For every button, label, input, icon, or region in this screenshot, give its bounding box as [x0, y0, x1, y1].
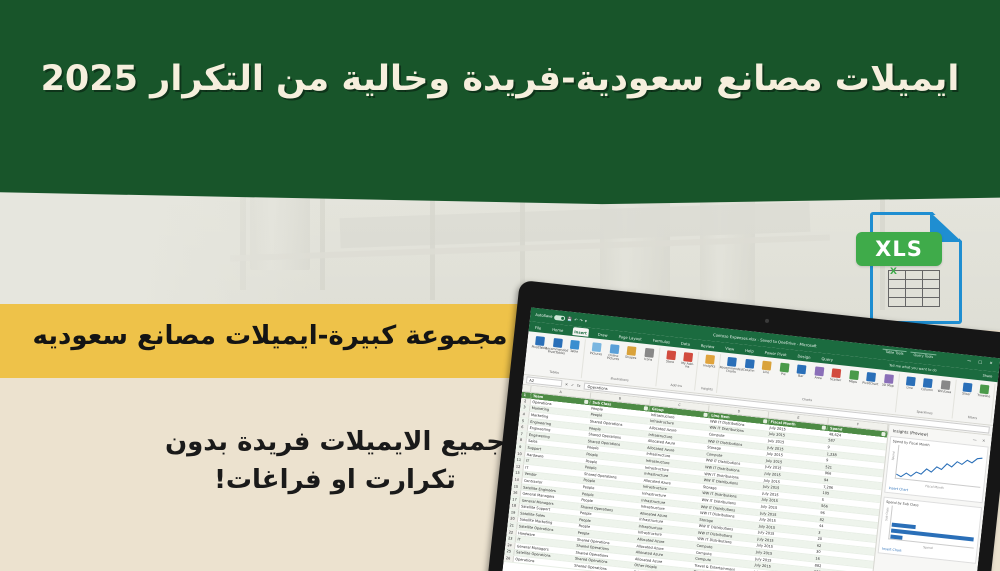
ribbon-button-label: Shapes [625, 356, 637, 361]
feature-copy: جميع الايميلات فريدة بدون تكرارت او فراغ… [125, 424, 545, 499]
bar-shared-operations [891, 529, 974, 542]
laptop-device: AutoSave 💾 ↶ ↷ ▾ Contoso Expenses.xlsx -… [488, 280, 1000, 571]
ribbon-button-label: Scatter [830, 378, 841, 383]
tab-help[interactable]: Help [743, 346, 756, 355]
insights-title: Insights (Preview) [893, 428, 929, 437]
ribbon-button-store[interactable]: Store [662, 350, 678, 365]
insight-card-bar[interactable]: Spend by Sub Class Sub Class Spend Inser… [878, 497, 983, 564]
line-chart-series [896, 446, 983, 487]
tell-me-search[interactable]: Tell me what you want to do [889, 363, 937, 372]
ribbon-button-insights[interactable]: Insights [702, 354, 718, 369]
filter-dropdown-icon[interactable] [822, 426, 826, 430]
tab-design[interactable]: Design [795, 351, 813, 361]
ribbon-group-illustrations: PicturesOnline PicturesShapesIconsIllust… [584, 340, 660, 387]
ribbon-button-pictures[interactable]: Pictures [588, 342, 604, 357]
xls-label-badge: XLS [856, 232, 942, 266]
page-title: ايميلات مصانع سعودية-فريدة وخالية من الت… [0, 56, 1000, 103]
insight-card-line[interactable]: Spend by Fiscal Month Spend Fiscal Month [884, 436, 989, 503]
tab-page-layout[interactable]: Page Layout [616, 332, 644, 343]
ribbon-button-label: Timeline [977, 394, 990, 399]
ribbon-button-shapes[interactable]: Shapes [623, 346, 639, 361]
excel-x-mark-icon: X [890, 267, 897, 277]
ribbon-button-label: Pictures [590, 352, 603, 357]
ribbon-group-label: Charts [802, 397, 813, 403]
ribbon-group-items: LineColumnWin/Loss [902, 374, 953, 395]
ribbon-button-label: Insights [703, 364, 715, 369]
ribbon-group-label: Sparklines [916, 410, 933, 417]
tab-data[interactable]: Data [679, 339, 693, 348]
tab-home[interactable]: Home [550, 325, 566, 335]
tab-view[interactable]: View [723, 343, 737, 352]
document-outline-icon [870, 212, 962, 324]
ribbon-group-label: Illustrations [610, 376, 629, 383]
insert-function-icon[interactable]: fx [577, 383, 581, 387]
subtitle-text: مجموعة كبيرة-ايميلات مصانع سعوديه [0, 320, 540, 353]
filter-dropdown-icon[interactable] [644, 406, 648, 410]
ribbon-group-label: Insights [700, 386, 713, 392]
ribbon-button-recommended-pivottables[interactable]: Recommended PivotTables [549, 338, 566, 356]
feature-copy-line1: جميع الايميلات فريدة بدون [125, 424, 545, 462]
ribbon-group-label: Tables [549, 370, 559, 376]
poster-canvas: ايميلات مصانع سعودية-فريدة وخالية من الت… [0, 0, 1000, 571]
ribbon-button-column[interactable]: Column [919, 378, 935, 393]
cancel-icon[interactable]: ✕ [565, 382, 569, 386]
tab-review[interactable]: Review [699, 341, 717, 351]
insert-chart-label-line: Insert Chart [888, 486, 908, 492]
ribbon-group-label: Add-ins [670, 383, 682, 389]
share-button[interactable]: Share [982, 374, 992, 379]
ribbon-button-label: 3D Map [882, 384, 894, 389]
ribbon-button-line[interactable]: Line [758, 360, 774, 375]
ribbon-button-slicer[interactable]: Slicer [959, 382, 975, 397]
ribbon-button-label: Store [666, 360, 675, 364]
ribbon-button-online-pictures[interactable]: Online Pictures [605, 344, 622, 362]
line-chart-y-label: Spend [891, 451, 896, 460]
ribbon-button-area[interactable]: Area [810, 366, 826, 381]
tab-draw[interactable]: Draw [595, 330, 610, 339]
ribbon-button-label: Column [921, 388, 933, 393]
ribbon-group-items: Insights [702, 352, 719, 369]
ribbon-group-tables: PivotTableRecommended PivotTablesTableTa… [527, 334, 586, 379]
ribbon-button-label: Win/Loss [937, 390, 951, 395]
ribbon-button-timeline[interactable]: Timeline [976, 384, 992, 399]
ribbon-button-label: Table [570, 350, 578, 354]
ribbon-button-3d-map[interactable]: 3D Map [880, 374, 896, 389]
ribbon-button-label: Online Pictures [605, 354, 621, 362]
tab-formulas[interactable]: Formulas [650, 335, 672, 345]
ribbon-button-icons[interactable]: Icons [640, 348, 656, 363]
ribbon-button-bar[interactable]: Bar [793, 364, 809, 379]
ribbon-group-sparklines: LineColumnWin/LossSparklines [897, 374, 956, 419]
bar-chart-series [890, 508, 976, 548]
tab-file[interactable]: File [533, 323, 544, 332]
filter-dropdown-icon[interactable] [584, 400, 588, 404]
bar-chart-y-label: Sub Class [884, 507, 889, 521]
share-label: Share [982, 374, 992, 379]
filter-dropdown-icon[interactable] [703, 413, 707, 417]
ribbon-button-label: Line [906, 386, 913, 390]
ribbon-button-label: Pie [781, 373, 786, 377]
ribbon-button-label: Line [763, 371, 770, 375]
filter-dropdown-icon[interactable] [881, 432, 885, 436]
tab-insert[interactable]: Insert [572, 327, 589, 337]
ribbon-button-pie[interactable]: Pie [776, 362, 792, 377]
ribbon-button-label: Area [814, 376, 821, 380]
ribbon-button-maps[interactable]: Maps [845, 370, 861, 385]
feature-copy-line2: تكرارت او فراغات! [125, 462, 545, 500]
ribbon-group-items: StoreMy Add-ins [662, 348, 696, 370]
ribbon-button-label: Column [742, 369, 754, 374]
ribbon-button-line[interactable]: Line [902, 376, 918, 391]
tab-power-pivot[interactable]: Power Pivot [762, 348, 789, 359]
xls-file-icon: X XLS [862, 208, 974, 326]
insights-pane-controls[interactable]: — ✕ [973, 437, 988, 444]
tab-query[interactable]: Query [819, 354, 835, 364]
ribbon-group-items: PivotTableRecommended PivotTablesTable [531, 334, 583, 358]
ribbon-button-label: Recommended PivotTables [545, 347, 569, 356]
ribbon-group-label: Filters [968, 415, 978, 421]
ribbon-button-label: Recommended Charts [719, 366, 743, 375]
ribbon-button-scatter[interactable]: Scatter [828, 368, 844, 383]
ribbon-button-recommended-charts[interactable]: Recommended Charts [723, 357, 740, 375]
ribbon-button-label: Bar [798, 375, 804, 379]
ribbon-button-label: Slicer [962, 392, 971, 396]
ribbon-button-column[interactable]: Column [741, 358, 757, 373]
ribbon-button-label: PivotChart [862, 382, 878, 387]
ribbon-group-insights: InsightsInsights [697, 352, 721, 393]
ribbon-button-win-loss[interactable]: Win/Loss [937, 380, 953, 395]
ribbon-group-add-ins: StoreMy Add-insAdd-ins [658, 348, 699, 391]
ribbon-group-filters: SlicerTimelineFilters [954, 380, 995, 423]
insert-chart-label-bar: Insert Chart [882, 547, 902, 553]
filter-dropdown-icon[interactable] [762, 419, 766, 423]
insights-pane: Insights (Preview) — ✕ Spend by Fiscal M… [868, 425, 992, 571]
ribbon-button-table[interactable]: Table [566, 340, 582, 355]
confirm-icon[interactable]: ✓ [571, 383, 575, 387]
ribbon-button-my-add-ins[interactable]: My Add-ins [679, 352, 696, 370]
ribbon-button-pivotchart[interactable]: PivotChart [863, 372, 879, 387]
ribbon-button-label: My Add-ins [679, 362, 695, 370]
ribbon-button-label: Icons [644, 358, 652, 362]
ribbon-group-items: SlicerTimeline [959, 380, 993, 399]
ribbon-button-label: Maps [849, 380, 857, 384]
